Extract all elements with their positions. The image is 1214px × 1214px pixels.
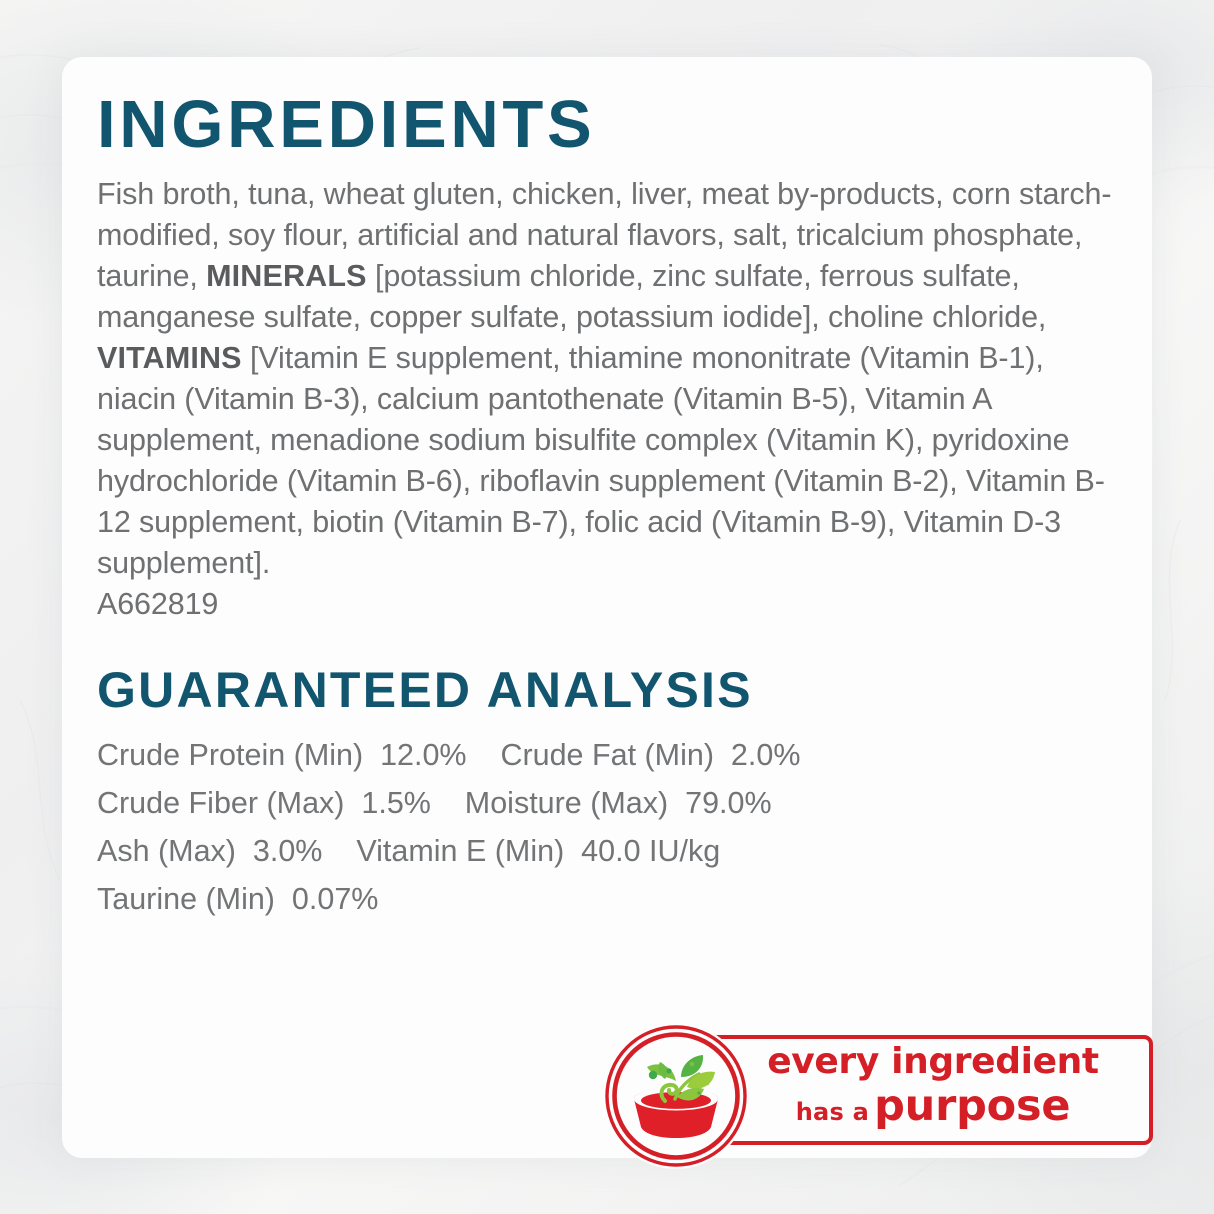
ingredients-heading: INGREDIENTS [97,85,1124,158]
ingredients-part-4: [Vitamin E supplement, thiamine mononitr… [97,341,1105,580]
guaranteed-analysis-heading: GUARANTEED ANALYSIS [97,665,1124,715]
ingredients-text: Fish broth, tuna, wheat gluten, chicken,… [97,174,1124,625]
table-row: Crude Fiber (Max) 1.5% Moisture (Max) 79… [97,779,1124,827]
badge-line-1: every ingredient [733,1041,1133,1083]
every-ingredient-has-a-purpose-badge: every ingredient has a purpose [603,1023,1159,1163]
minerals-label: MINERALS [206,259,367,293]
pet-bowl-with-sprout-icon [603,1023,749,1169]
badge-line-2-small: has a [796,1098,869,1126]
badge-line-2-big: purpose [874,1081,1070,1131]
badge-line-2: has a purpose [733,1083,1133,1138]
table-row: Taurine (Min) 0.07% [97,875,1124,923]
lot-code: A662819 [97,584,1124,625]
badge-text: every ingredient has a purpose [733,1041,1133,1138]
card-inner: INGREDIENTS Fish broth, tuna, wheat glut… [97,85,1124,923]
table-row: Crude Protein (Min) 12.0% Crude Fat (Min… [97,731,1124,779]
page-background: INGREDIENTS Fish broth, tuna, wheat glut… [0,0,1214,1214]
guaranteed-analysis-table: Crude Protein (Min) 12.0% Crude Fat (Min… [97,731,1124,923]
table-row: Ash (Max) 3.0% Vitamin E (Min) 40.0 IU/k… [97,827,1124,875]
content-card: INGREDIENTS Fish broth, tuna, wheat glut… [62,57,1152,1158]
vitamins-label: VITAMINS [97,341,242,375]
